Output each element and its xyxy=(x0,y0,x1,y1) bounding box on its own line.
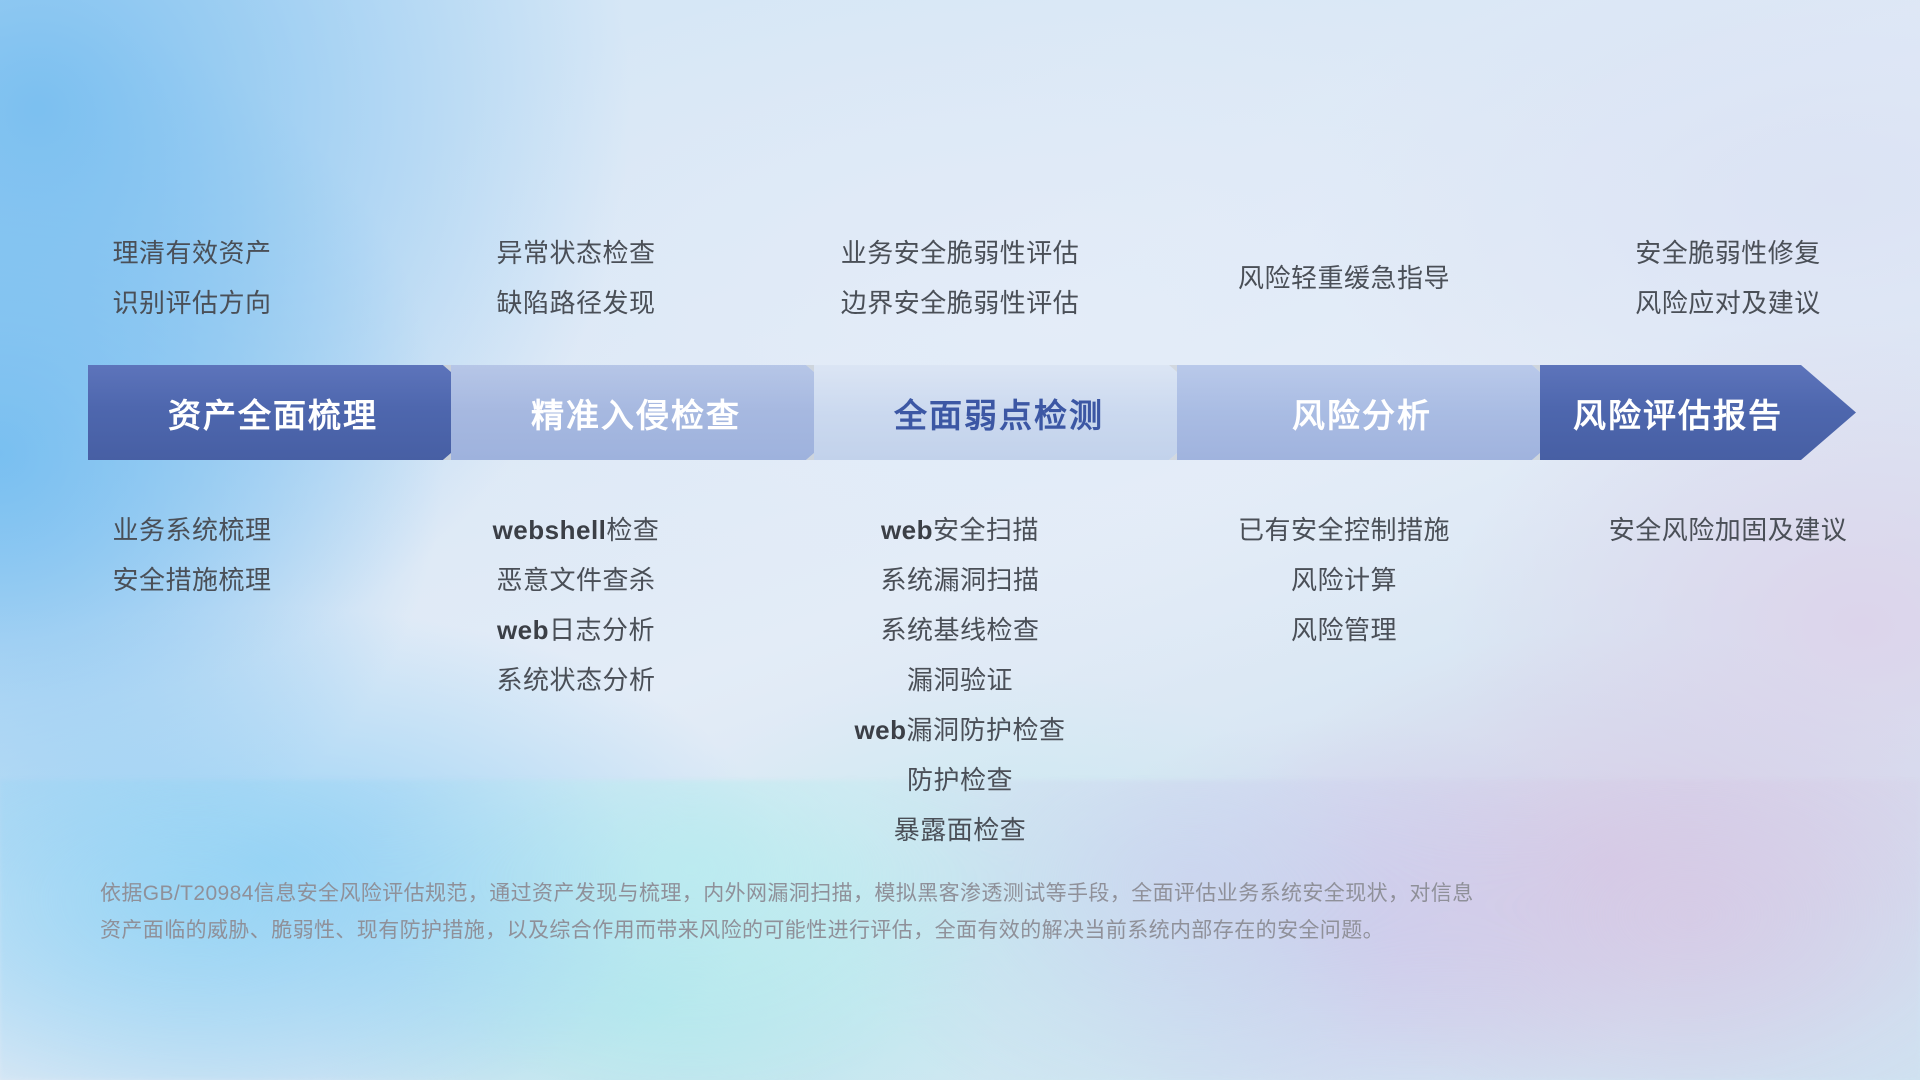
chevron-asset-inventory[interactable]: 资产全面梳理 xyxy=(88,365,498,460)
bottom-item: 风险管理 xyxy=(1152,605,1536,655)
chevron-label: 资产全面梳理 xyxy=(168,389,378,437)
top-column-intrusion-check: 异常状态检查 缺陷路径发现 xyxy=(384,228,768,328)
chevron-intrusion-check[interactable]: 精准入侵检查 xyxy=(451,365,861,460)
chevron-label: 风险分析 xyxy=(1292,389,1432,437)
chevron-label: 精准入侵检查 xyxy=(531,389,741,437)
top-item: 识别评估方向 xyxy=(0,278,384,328)
top-item: 业务安全脆弱性评估 xyxy=(768,228,1152,278)
top-item: 风险应对及建议 xyxy=(1536,278,1920,328)
top-item: 缺陷路径发现 xyxy=(384,278,768,328)
bottom-item: 系统状态分析 xyxy=(384,655,768,705)
bottom-item: 防护检查 xyxy=(768,755,1152,805)
bottom-item: 系统漏洞扫描 xyxy=(768,555,1152,605)
process-diagram: 理清有效资产 识别评估方向 异常状态检查 缺陷路径发现 业务安全脆弱性评估 边界… xyxy=(0,0,1920,1080)
bottom-item: 安全风险加固及建议 xyxy=(1536,505,1920,555)
bottom-item: 暴露面检查 xyxy=(768,805,1152,855)
bottom-item: 漏洞验证 xyxy=(768,655,1152,705)
bottom-column-intrusion-check: webshell检查 恶意文件查杀 web日志分析 系统状态分析 xyxy=(384,505,768,705)
top-item: 风险轻重缓急指导 xyxy=(1152,253,1536,303)
stage-chevron-band: 资产全面梳理 精准入侵检查 xyxy=(88,365,1856,460)
bottom-item: webshell检查 xyxy=(384,505,768,555)
footnote: 依据GB/T20984信息安全风险评估规范，通过资产发现与梳理，内外网漏洞扫描，… xyxy=(100,875,1720,949)
top-item: 边界安全脆弱性评估 xyxy=(768,278,1152,328)
chevron-risk-report[interactable]: 风险评估报告 xyxy=(1540,365,1856,460)
bottom-item: web安全扫描 xyxy=(768,505,1152,555)
top-column-risk-analysis: 风险轻重缓急指导 xyxy=(1152,228,1536,328)
bottom-item: web日志分析 xyxy=(384,605,768,655)
bottom-column-weakness-detection: web安全扫描 系统漏洞扫描 系统基线检查 漏洞验证 web漏洞防护检查 防护检… xyxy=(768,505,1152,855)
top-column-risk-report: 安全脆弱性修复 风险应对及建议 xyxy=(1536,228,1920,328)
bottom-activities-row: 业务系统梳理 安全措施梳理 webshell检查 恶意文件查杀 web日志分析 … xyxy=(0,505,1920,855)
bottom-item: 风险计算 xyxy=(1152,555,1536,605)
bottom-column-asset-inventory: 业务系统梳理 安全措施梳理 xyxy=(0,505,384,605)
bottom-item: 恶意文件查杀 xyxy=(384,555,768,605)
bottom-item: 安全措施梳理 xyxy=(0,555,384,605)
top-outcomes-row: 理清有效资产 识别评估方向 异常状态检查 缺陷路径发现 业务安全脆弱性评估 边界… xyxy=(0,228,1920,328)
bottom-item: web漏洞防护检查 xyxy=(768,705,1152,755)
bottom-item: 已有安全控制措施 xyxy=(1152,505,1536,555)
bottom-column-risk-analysis: 已有安全控制措施 风险计算 风险管理 xyxy=(1152,505,1536,655)
footnote-line: 依据GB/T20984信息安全风险评估规范，通过资产发现与梳理，内外网漏洞扫描，… xyxy=(100,875,1720,912)
top-item: 安全脆弱性修复 xyxy=(1536,228,1920,278)
footnote-line: 资产面临的威胁、脆弱性、现有防护措施，以及综合作用而带来风险的可能性进行评估，全… xyxy=(100,912,1720,949)
bottom-item: 系统基线检查 xyxy=(768,605,1152,655)
chevron-weakness-detection[interactable]: 全面弱点检测 xyxy=(814,365,1224,460)
top-item: 理清有效资产 xyxy=(0,228,384,278)
bottom-item: 业务系统梳理 xyxy=(0,505,384,555)
top-item: 异常状态检查 xyxy=(384,228,768,278)
top-column-weakness-detection: 业务安全脆弱性评估 边界安全脆弱性评估 xyxy=(768,228,1152,328)
chevron-risk-analysis[interactable]: 风险分析 xyxy=(1177,365,1587,460)
chevron-label: 风险评估报告 xyxy=(1573,389,1783,437)
chevron-label: 全面弱点检测 xyxy=(894,389,1104,437)
bottom-column-risk-report: 安全风险加固及建议 xyxy=(1536,505,1920,555)
top-column-asset-inventory: 理清有效资产 识别评估方向 xyxy=(0,228,384,328)
